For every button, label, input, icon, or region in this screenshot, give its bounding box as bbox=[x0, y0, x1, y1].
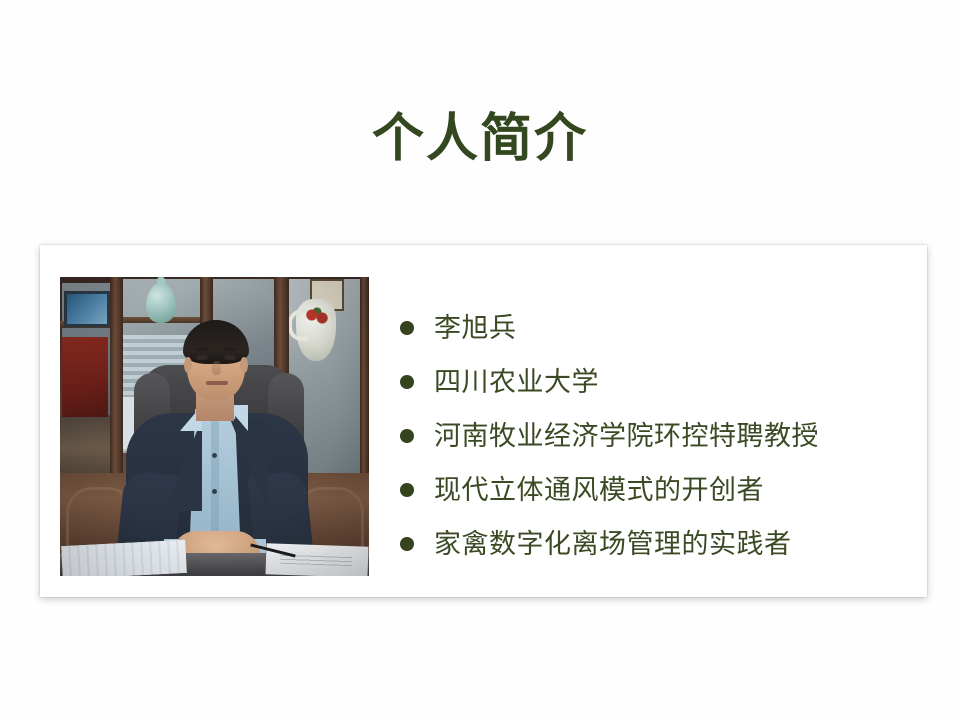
list-item-label: 家禽数字化离场管理的实践者 bbox=[434, 527, 792, 561]
bullet-dot-icon bbox=[400, 429, 414, 443]
list-item-label: 四川农业大学 bbox=[434, 365, 599, 399]
slide-root: 个人简介 bbox=[0, 0, 960, 720]
profile-bullet-list: 李旭兵 四川农业大学 河南牧业经济学院环控特聘教授 现代立体通风模式的开创者 家… bbox=[400, 301, 910, 571]
list-item: 现代立体通风模式的开创者 bbox=[400, 463, 910, 517]
bullet-dot-icon bbox=[400, 537, 414, 551]
bullet-dot-icon bbox=[400, 483, 414, 497]
list-item: 家禽数字化离场管理的实践者 bbox=[400, 517, 910, 571]
portrait-photo bbox=[60, 277, 369, 576]
list-item: 李旭兵 bbox=[400, 301, 910, 355]
list-item: 河南牧业经济学院环控特聘教授 bbox=[400, 409, 910, 463]
list-item-label: 现代立体通风模式的开创者 bbox=[434, 473, 764, 507]
portrait-scene bbox=[60, 277, 369, 576]
bullet-dot-icon bbox=[400, 321, 414, 335]
list-item: 四川农业大学 bbox=[400, 355, 910, 409]
page-title: 个人简介 bbox=[0, 108, 960, 170]
list-item-label: 河南牧业经济学院环控特聘教授 bbox=[434, 419, 819, 453]
bullet-dot-icon bbox=[400, 375, 414, 389]
content-card: 李旭兵 四川农业大学 河南牧业经济学院环控特聘教授 现代立体通风模式的开创者 家… bbox=[40, 245, 927, 597]
list-item-label: 李旭兵 bbox=[434, 311, 517, 345]
photo-vignette bbox=[60, 277, 369, 576]
